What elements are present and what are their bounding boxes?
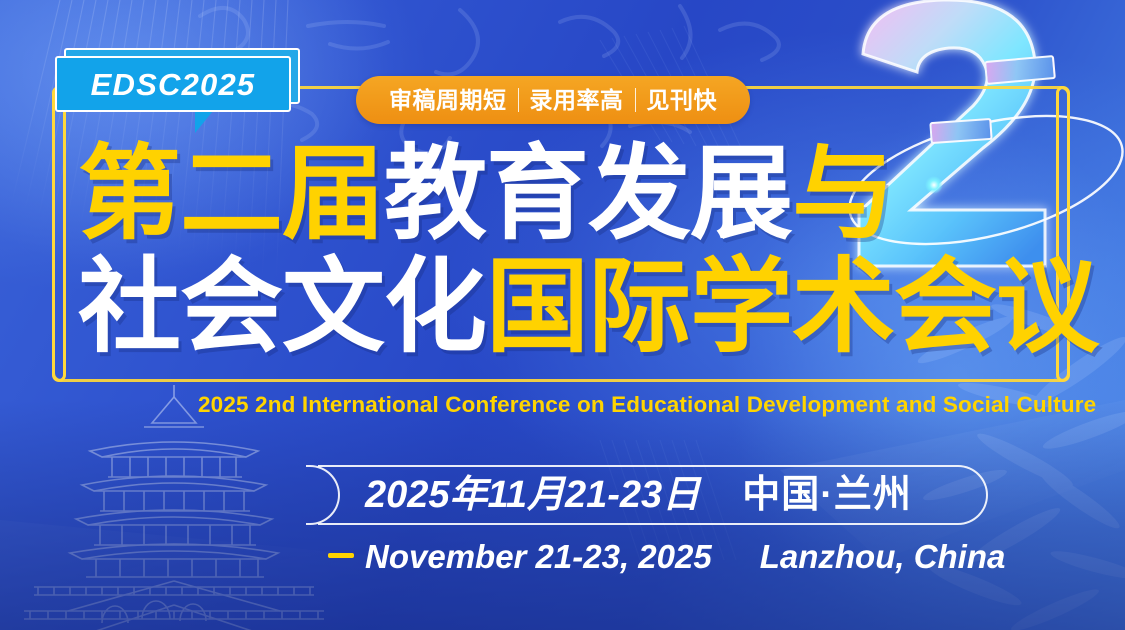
title-char: 国 bbox=[486, 255, 588, 360]
title-char: 育 bbox=[486, 142, 588, 247]
title-char: 与 bbox=[792, 142, 894, 247]
title-char: 第 bbox=[78, 142, 180, 247]
location-cn-value: 中国·兰州 bbox=[742, 471, 912, 519]
edsc-tag-tail bbox=[195, 111, 213, 133]
title-char: 二 bbox=[180, 142, 282, 247]
edsc-tag-body: EDSC2025 bbox=[55, 56, 291, 112]
title-char: 教 bbox=[384, 142, 486, 247]
date-dash-marker bbox=[328, 553, 354, 558]
title-char: 届 bbox=[282, 142, 384, 247]
title-char: 会 bbox=[180, 255, 282, 360]
title-char: 议 bbox=[996, 255, 1098, 360]
title-char: 社 bbox=[78, 255, 180, 360]
title-char: 发 bbox=[588, 142, 690, 247]
english-subtitle: 2025 2nd International Conference on Edu… bbox=[198, 392, 1096, 418]
title-char: 化 bbox=[384, 255, 486, 360]
location-en-value: Lanzhou, China bbox=[760, 536, 1006, 578]
date-cn-value: 2025年11月21-23日 bbox=[365, 471, 700, 519]
title-char: 展 bbox=[690, 142, 792, 247]
date-en-value: November 21-23, 2025 bbox=[365, 536, 712, 578]
title-char: 学 bbox=[690, 255, 792, 360]
title-char: 术 bbox=[792, 255, 894, 360]
date-chinese: 2025年11月21-23日 中国·兰州 bbox=[365, 471, 912, 519]
edsc-tag-label: EDSC2025 bbox=[91, 69, 256, 100]
title-char: 文 bbox=[282, 255, 384, 360]
title-line-2: 社会文化国际学术会议 bbox=[78, 255, 1058, 360]
badge-item-0: 审稿周期短 bbox=[378, 89, 518, 112]
features-badge: 审稿周期短 录用率高 见刊快 bbox=[356, 76, 750, 124]
date-english: November 21-23, 2025 Lanzhou, China bbox=[365, 536, 1005, 578]
title-line-1: 第二届教育发展与 bbox=[78, 142, 1058, 247]
conference-banner: EDSC2025 审稿周期短 录用率高 见刊快 第二届教育发展与 社会文化国际学… bbox=[0, 0, 1125, 630]
frame-cap-left bbox=[52, 86, 66, 382]
conference-title: 第二届教育发展与 社会文化国际学术会议 bbox=[78, 142, 1058, 360]
title-char: 际 bbox=[588, 255, 690, 360]
title-char: 会 bbox=[894, 255, 996, 360]
edsc-tag: EDSC2025 bbox=[55, 56, 291, 112]
badge-item-1: 录用率高 bbox=[519, 89, 635, 112]
badge-item-2: 见刊快 bbox=[636, 89, 729, 112]
